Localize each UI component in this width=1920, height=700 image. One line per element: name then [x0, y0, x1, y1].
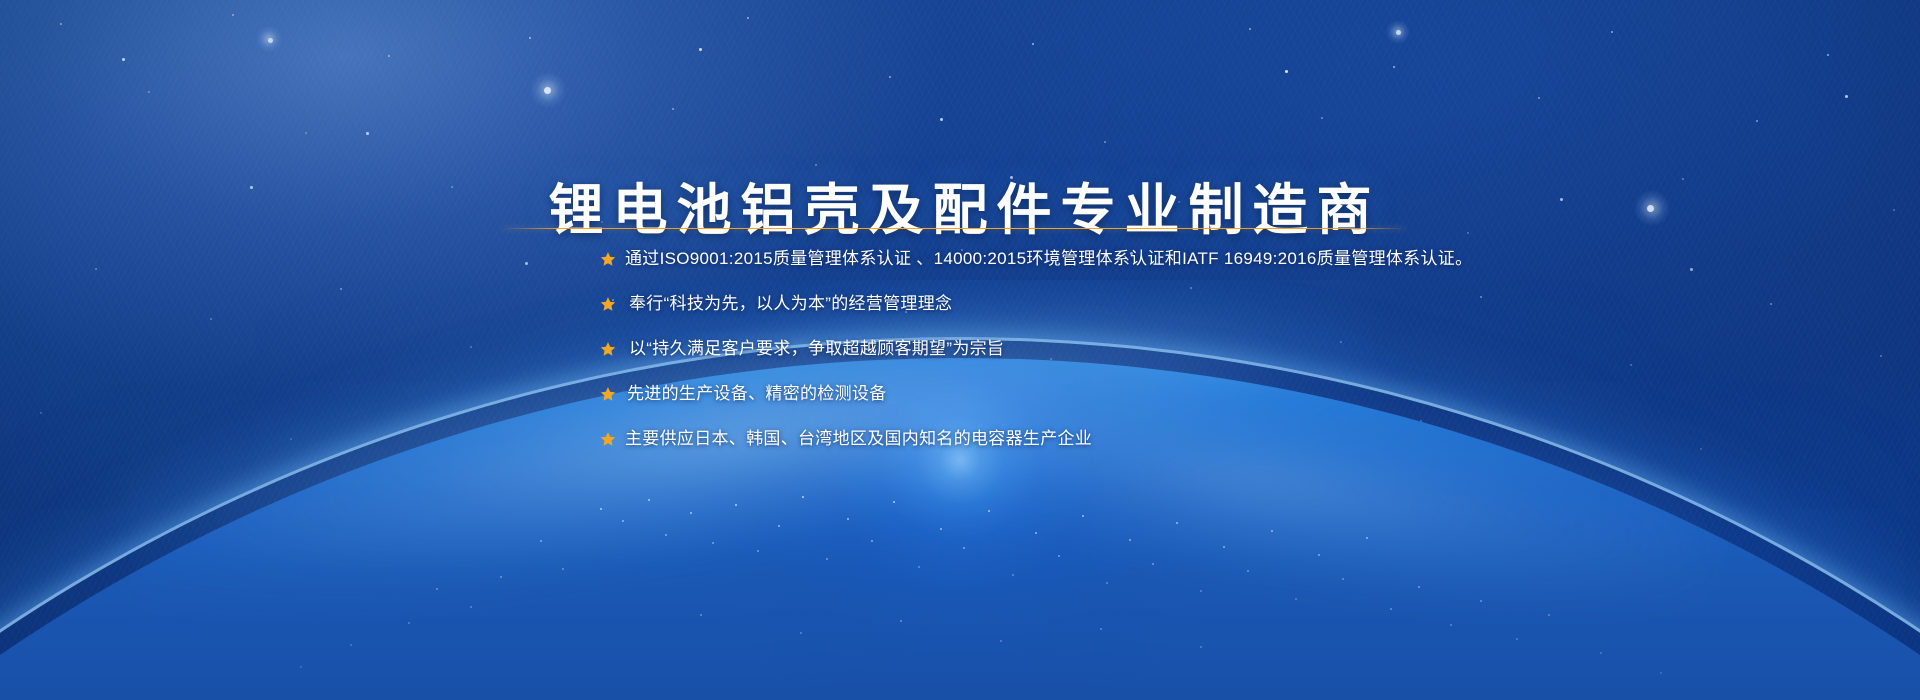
- list-item: 主要供应日本、韩国、台湾地区及国内知名的电容器生产企业: [600, 427, 1600, 451]
- star-icon: [600, 431, 616, 447]
- bullet-text: 奉行“科技为先，以人为本”的经营管理理念: [625, 292, 952, 316]
- star-icon: [600, 251, 616, 267]
- list-item: 奉行“科技为先，以人为本”的经营管理理念: [600, 292, 1600, 316]
- bullet-text: 主要供应日本、韩国、台湾地区及国内知名的电容器生产企业: [625, 427, 1092, 451]
- star-icon: [600, 386, 616, 402]
- feature-bullet-list: 通过ISO9001:2015质量管理体系认证 、14000:2015环境管理体系…: [600, 247, 1600, 451]
- banner-headline: 锂电池铝壳及配件专业制造商: [0, 181, 1920, 240]
- bullet-text: 以“持久满足客户要求，争取超越顾客期望”为宗旨: [625, 337, 1004, 361]
- hero-banner: 锂电池铝壳及配件专业制造商 通过ISO9001:2015质量管理体系认证 、14…: [0, 0, 1920, 700]
- gold-divider: [502, 228, 1406, 229]
- bullet-text: 先进的生产设备、精密的检测设备: [625, 382, 887, 406]
- star-icon: [600, 296, 616, 312]
- bullet-text: 通过ISO9001:2015质量管理体系认证 、14000:2015环境管理体系…: [625, 247, 1472, 271]
- list-item: 通过ISO9001:2015质量管理体系认证 、14000:2015环境管理体系…: [600, 247, 1600, 271]
- star-icon: [600, 341, 616, 357]
- list-item: 先进的生产设备、精密的检测设备: [600, 382, 1600, 406]
- list-item: 以“持久满足客户要求，争取超越顾客期望”为宗旨: [600, 337, 1600, 361]
